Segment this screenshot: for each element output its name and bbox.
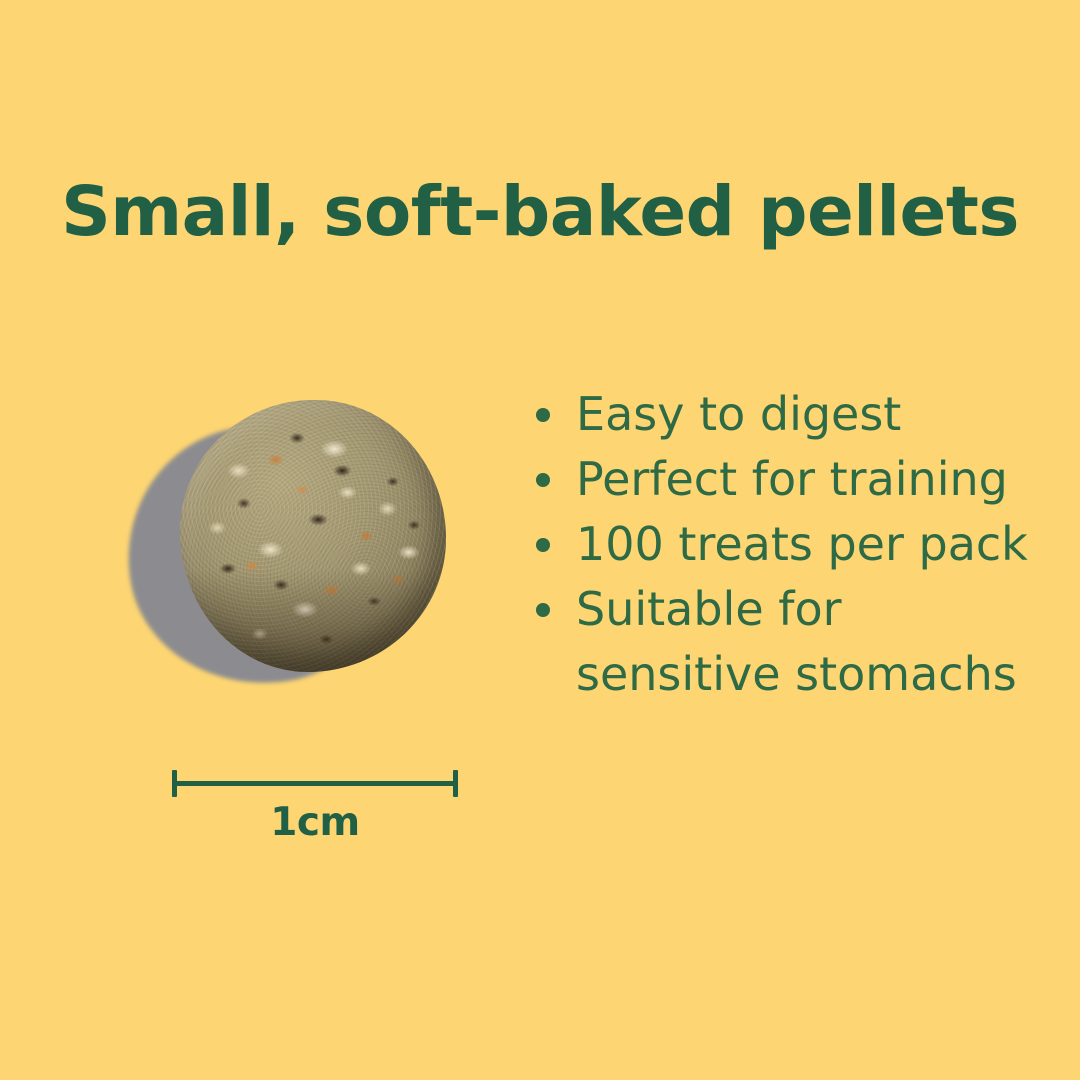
feature-label: 100 treats per pack <box>576 517 1028 571</box>
feature-label: Suitable for sensitive stomachs <box>576 582 1017 701</box>
feature-list-item: Easy to digest <box>532 382 1052 447</box>
feature-list-item: Perfect for training <box>532 447 1052 512</box>
feature-label: Perfect for training <box>576 452 1008 506</box>
page-title: Small, soft-baked pellets <box>0 178 1080 247</box>
feature-list: Easy to digest Perfect for training 100 … <box>532 382 1052 707</box>
product-feature-card: Small, soft-baked pellets 1cm Easy to di… <box>0 0 1080 1080</box>
scale-bar-cap-left <box>172 770 177 797</box>
scale-bar <box>172 770 458 798</box>
product-image <box>110 380 510 720</box>
scale-bar-cap-right <box>453 770 458 797</box>
feature-list-item: 100 treats per pack <box>532 512 1052 577</box>
treat-pellet <box>180 400 446 672</box>
scale-bar-label: 1cm <box>172 800 458 845</box>
feature-label: Easy to digest <box>576 387 901 441</box>
feature-list-item: Suitable for sensitive stomachs <box>532 577 1052 707</box>
pellet-lower-rim-shading <box>180 569 446 672</box>
scale-bar-line <box>172 781 458 786</box>
